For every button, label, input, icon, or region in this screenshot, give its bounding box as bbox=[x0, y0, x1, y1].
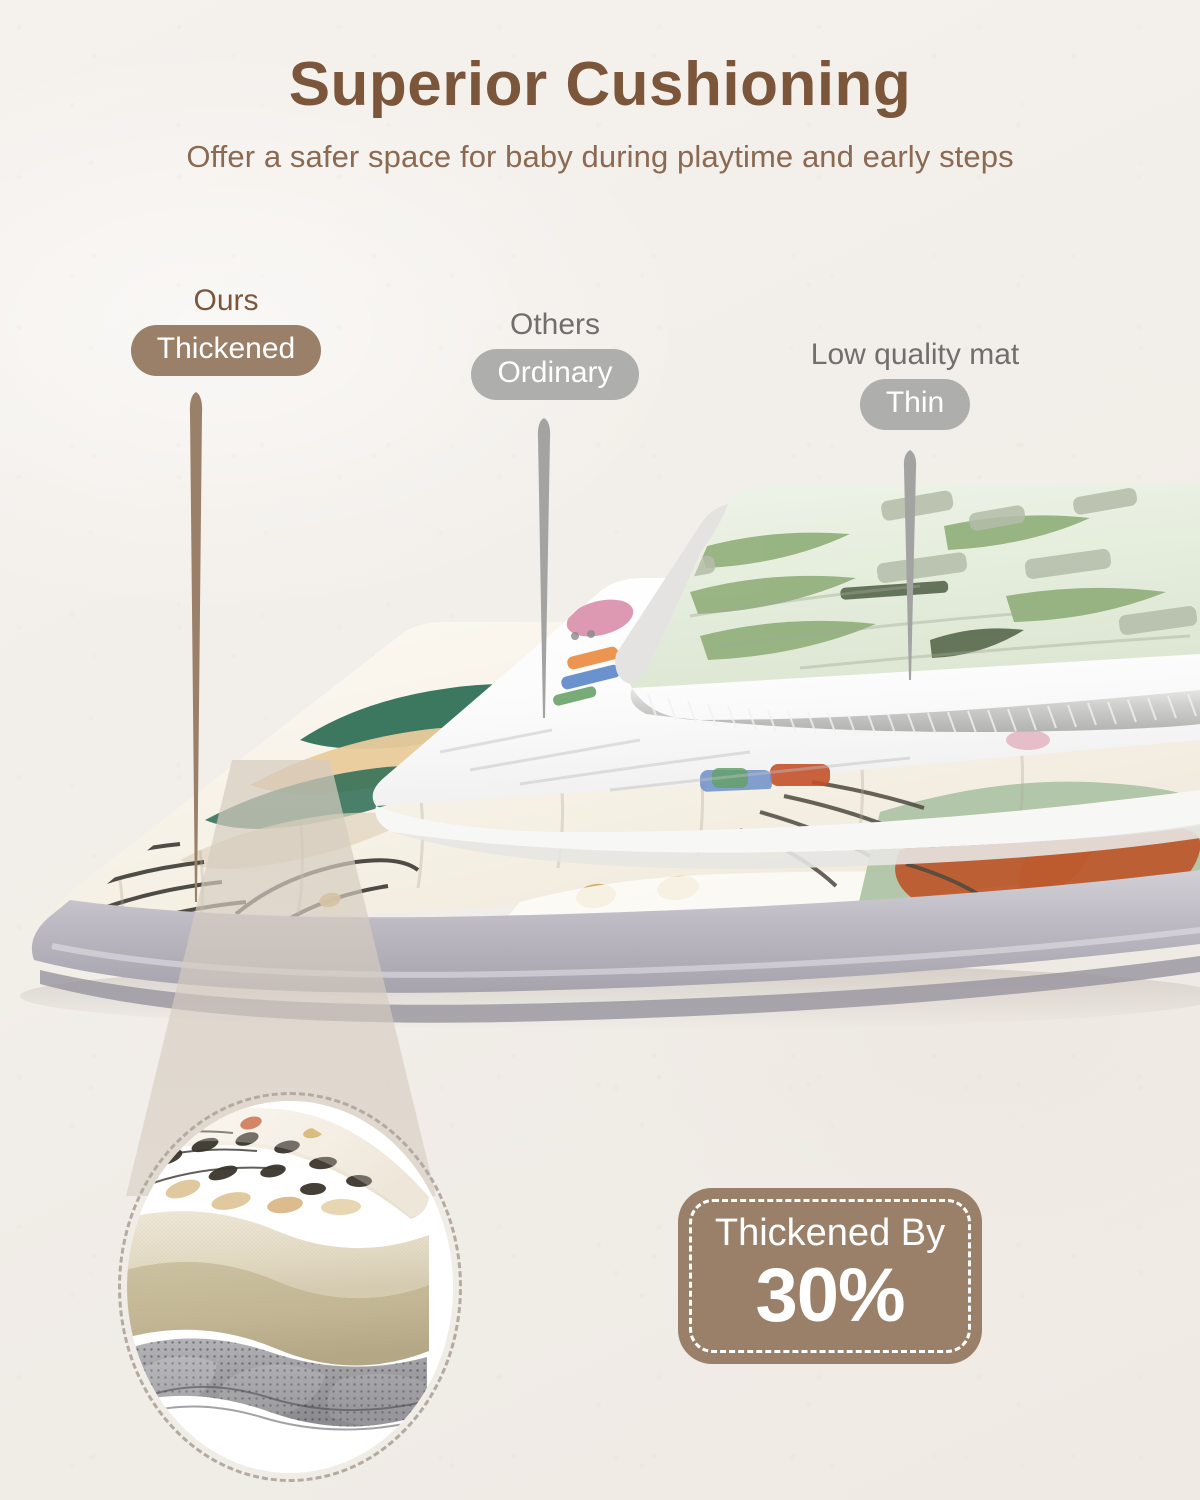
badge-line-1: Thickened By bbox=[678, 1212, 982, 1255]
page-subtitle: Offer a safer space for baby during play… bbox=[0, 139, 1200, 175]
badge-line-2: 30% bbox=[678, 1252, 982, 1339]
callout-ours: Ours Thickened bbox=[96, 284, 356, 376]
callout-others: Others Ordinary bbox=[430, 308, 680, 400]
needle-ours bbox=[176, 392, 216, 902]
needle-others bbox=[524, 418, 564, 718]
headline-block: Superior Cushioning Offer a safer space … bbox=[0, 52, 1200, 175]
callout-ours-title: Ours bbox=[96, 284, 356, 317]
page-title: Superior Cushioning bbox=[0, 52, 1200, 117]
magnifier-disc bbox=[127, 1101, 453, 1473]
infographic-canvas: Superior Cushioning Offer a safer space … bbox=[0, 0, 1200, 1500]
callout-low-quality-title: Low quality mat bbox=[760, 338, 1070, 371]
callout-low-quality: Low quality mat Thin bbox=[760, 338, 1070, 430]
layer-cutaway-magnifier bbox=[118, 1092, 462, 1482]
callout-ours-pill: Thickened bbox=[131, 325, 321, 376]
needle-low-quality bbox=[890, 450, 930, 680]
thickened-by-badge: Thickened By 30% bbox=[678, 1188, 982, 1364]
callout-low-quality-pill: Thin bbox=[860, 379, 970, 430]
callout-others-title: Others bbox=[430, 308, 680, 341]
mat-layer-cross-section bbox=[127, 1101, 453, 1473]
callout-others-pill: Ordinary bbox=[471, 349, 638, 400]
